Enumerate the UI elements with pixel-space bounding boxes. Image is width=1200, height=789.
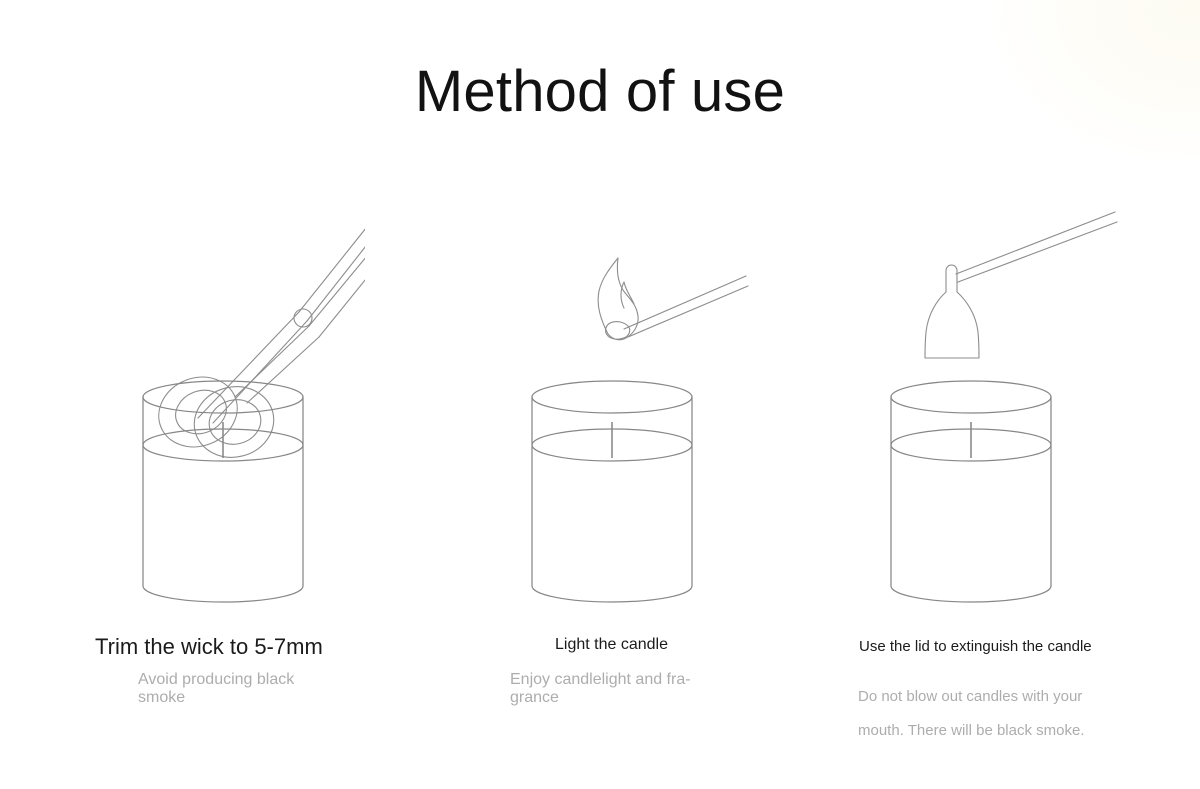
match-and-candle-illustration xyxy=(468,190,758,610)
step-2-subcaption: Enjoy candlelight and fra-grance xyxy=(510,671,715,707)
step-3-caption: Use the lid to extinguish the candle xyxy=(859,637,1092,657)
method-of-use-infographic: Method of use xyxy=(0,0,1200,789)
candle-jar xyxy=(143,381,303,602)
page-title: Method of use xyxy=(0,55,1200,129)
step-2-caption: Light the candle xyxy=(555,635,668,655)
scissors-icon xyxy=(148,203,365,466)
candle-jar xyxy=(891,381,1051,602)
scissors-and-candle-illustration xyxy=(95,190,365,610)
step-1-caption: Trim the wick to 5-7mm xyxy=(95,633,323,661)
candle-snuffer-icon xyxy=(925,212,1117,358)
step-3-subcaption: Do not blow out candles with your mouth.… xyxy=(858,680,1108,748)
lit-match-icon xyxy=(598,258,748,340)
candle-jar xyxy=(532,381,692,602)
step-1-subcaption: Avoid producing black smoke xyxy=(138,671,328,707)
snuffer-and-candle-illustration xyxy=(836,190,1126,610)
